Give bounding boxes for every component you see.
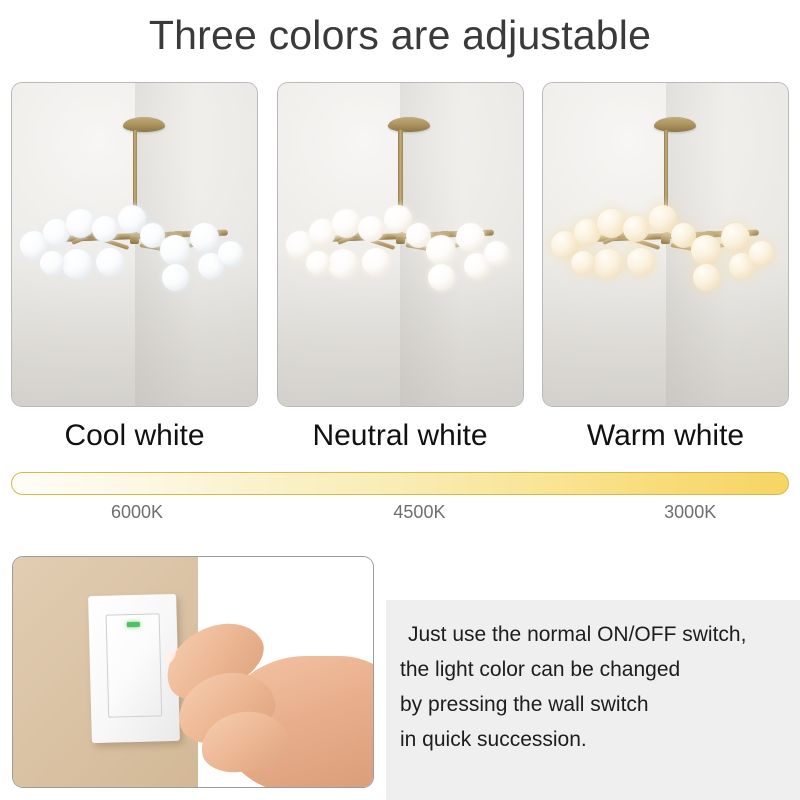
globe	[749, 241, 774, 266]
instruction-line-1: Just use the normal ON/OFF switch,	[400, 617, 800, 652]
ceiling-canopy	[654, 117, 696, 132]
fingernail	[162, 648, 177, 666]
globe	[691, 235, 721, 265]
label-cool-white: Cool white	[11, 416, 258, 460]
globe	[358, 216, 384, 242]
label-neutral-white: Neutral white	[277, 416, 524, 460]
globe	[62, 249, 92, 279]
globe	[162, 264, 189, 291]
panel-cool-white	[11, 82, 258, 407]
tick-6000k: 6000K	[111, 502, 163, 523]
color-temperature-gradient-bar	[11, 472, 789, 495]
label-warm-white: Warm white	[542, 416, 789, 460]
ceiling-canopy	[123, 117, 165, 132]
tick-3000k: 3000K	[664, 502, 716, 523]
panel-neutral-white	[277, 82, 524, 407]
globe	[40, 251, 64, 275]
color-panels-row	[11, 82, 789, 407]
globe	[96, 248, 124, 276]
wall-switch-photo	[12, 556, 374, 788]
globe	[484, 241, 509, 266]
ceiling-canopy	[388, 117, 430, 132]
panel-warm-white	[542, 82, 789, 407]
globe	[218, 241, 243, 266]
instruction-line-2: the light color can be changed	[400, 652, 800, 687]
instruction-text: Just use the normal ON/OFF switch, the l…	[400, 617, 800, 757]
globe	[306, 251, 330, 275]
globe	[597, 209, 626, 238]
globe	[593, 249, 623, 279]
globe	[428, 264, 455, 291]
globe	[456, 223, 485, 252]
chandelier-warm-icon	[543, 83, 788, 406]
tick-4500k: 4500K	[393, 502, 445, 523]
socket	[130, 235, 139, 244]
hand-icon	[157, 621, 374, 788]
socket	[661, 235, 670, 244]
globe	[190, 223, 219, 252]
globe	[426, 235, 456, 265]
instruction-panel: Just use the normal ON/OFF switch, the l…	[386, 600, 800, 800]
globe	[66, 209, 95, 238]
globe	[721, 223, 750, 252]
globe	[332, 209, 361, 238]
socket	[396, 235, 405, 244]
globe	[328, 249, 358, 279]
globe	[92, 216, 118, 242]
globe	[623, 216, 649, 242]
chandelier-cool-icon	[12, 83, 257, 406]
globe	[160, 235, 190, 265]
color-temperature-ticks: 6000K 4500K 3000K	[11, 502, 789, 530]
globe	[362, 248, 390, 276]
led-indicator-icon	[127, 622, 141, 627]
panel-labels-row: Cool white Neutral white Warm white	[11, 416, 789, 460]
globe	[571, 251, 595, 275]
page-title: Three colors are adjustable	[0, 6, 800, 64]
globe	[627, 248, 655, 276]
rocker-switch	[106, 613, 163, 717]
instruction-line-3: by pressing the wall switch	[400, 687, 800, 722]
chandelier-neutral-icon	[278, 83, 523, 406]
globe	[693, 264, 720, 291]
instruction-line-4: in quick succession.	[400, 722, 800, 757]
